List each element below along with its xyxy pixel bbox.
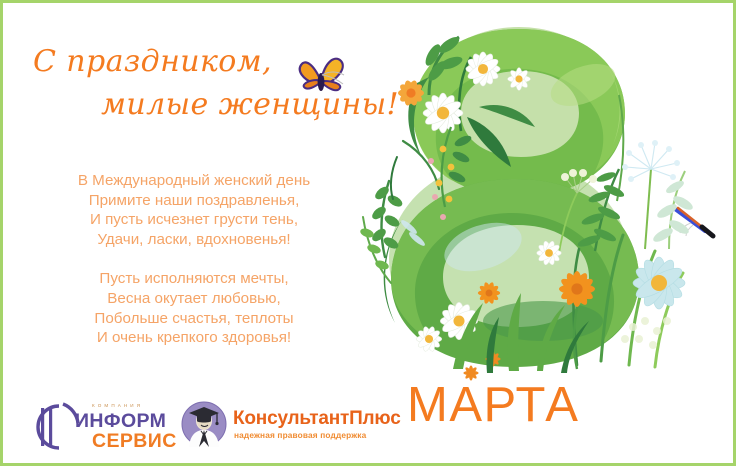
seed-head-cluster — [621, 317, 671, 349]
inform-servis-tiny-text: компания — [92, 403, 143, 408]
consultant-plus-name: КонсультантПлюс — [233, 408, 401, 430]
poem-text: В Международный женский день Примите наш… — [15, 171, 373, 348]
inform-servis-word-2: СЕРВИС — [92, 430, 177, 453]
consultant-plus-tagline: надежная правовая поддержка — [234, 430, 366, 440]
logo-consultant-plus[interactable]: КонсультантПлюс надежная правовая поддер… — [181, 401, 361, 451]
white-daisy-small — [508, 68, 531, 91]
poem-line: И пусть исчезнет грусти тень, — [15, 210, 373, 230]
pale-leaf-sprig — [651, 171, 695, 249]
poem-line: Удачи, ласки, вдохновенья! — [15, 230, 373, 250]
greeting-card: С праздником, милые женщины! В Междунаро… — [0, 0, 736, 466]
consultant-plus-badge-icon — [181, 401, 227, 447]
poem-line: Пусть исполняются мечты, — [15, 269, 373, 289]
poem-stanza-2: Пусть исполняются мечты, Весна окутает л… — [15, 269, 373, 347]
logo-inform-servis[interactable]: компания ИНФОРМ СЕРВИС — [29, 399, 175, 455]
poem-line: Весна окутает любовью, — [15, 289, 373, 309]
poem-line: И очень крепкого здоровья! — [15, 328, 373, 348]
poem-stanza-1: В Международный женский день Примите наш… — [15, 171, 373, 249]
date-label: МАРТА — [407, 381, 579, 430]
inform-servis-mark-icon — [29, 401, 81, 453]
figure-eight-floral-illustration — [333, 21, 733, 381]
poem-line: Примите наши поздравленья, — [15, 191, 373, 211]
poem-line: Побольше счастья, теплоты — [15, 309, 373, 329]
poem-line: В Международный женский день — [15, 171, 373, 191]
blue-daisy — [632, 256, 685, 309]
